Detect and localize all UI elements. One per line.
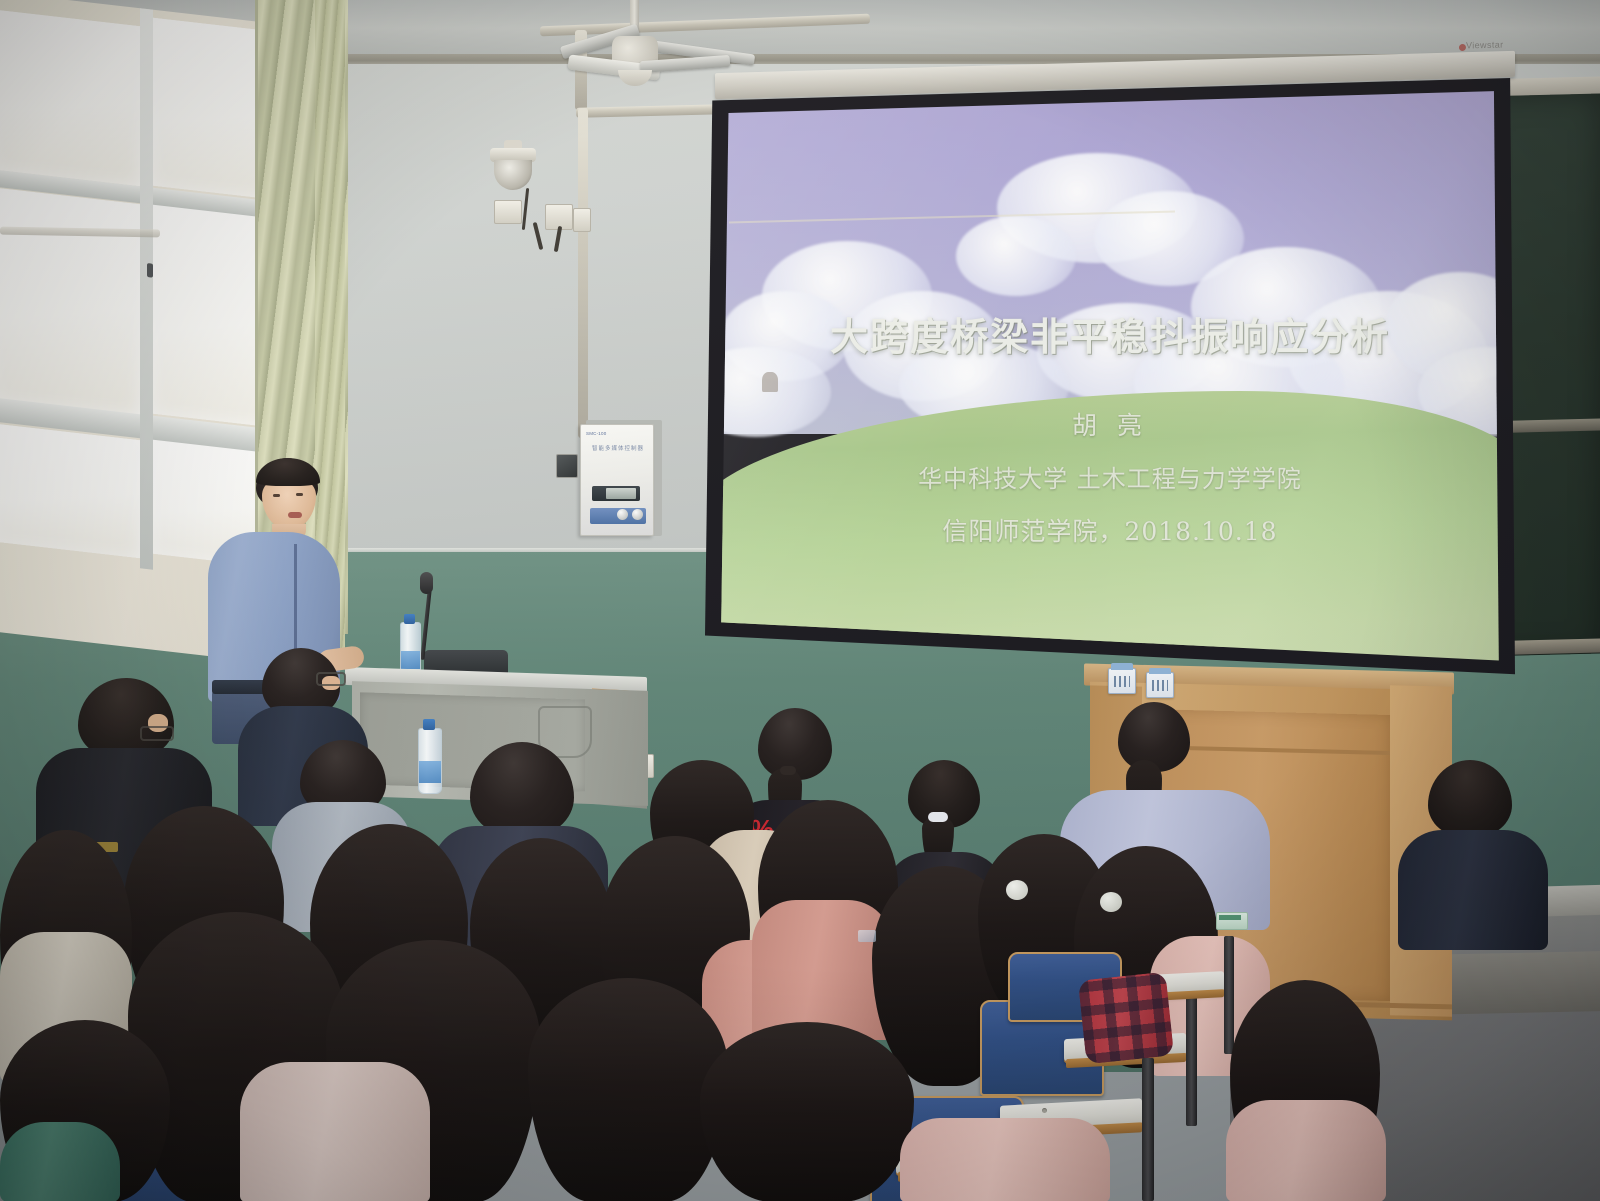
power-outlet-icon[interactable]	[573, 208, 591, 232]
window-pane	[0, 423, 140, 558]
conduit-pipe-vertical	[578, 108, 588, 438]
window-pane	[0, 9, 140, 186]
desk-leg	[1224, 936, 1234, 1054]
student-jacket-pink	[900, 1118, 1110, 1201]
presenter-eye	[296, 493, 303, 496]
red-plaid-jacket	[1078, 972, 1174, 1065]
chalk-box[interactable]	[1108, 668, 1136, 694]
desk-leg	[1186, 994, 1197, 1126]
projection-screen-surface[interactable]: 大跨度桥梁非平稳抖振响应分析 胡 亮 华中科技大学 土木工程与力学学院 信阳师范…	[705, 78, 1515, 703]
eyeglasses-icon	[140, 726, 174, 741]
wall-panel-knob[interactable]	[632, 509, 643, 520]
window-latch[interactable]	[147, 263, 153, 278]
chalk-box-lid	[1111, 663, 1133, 670]
bottle-label	[401, 651, 420, 669]
wall-panel-label: 智能多媒体控制器	[592, 444, 644, 452]
chalk-box-lid	[1149, 668, 1171, 674]
student-hair-long	[528, 978, 728, 1201]
hair-clip	[1006, 880, 1028, 900]
presenter-eye	[273, 494, 280, 497]
screen-glare	[705, 78, 1515, 703]
student-hair-long	[700, 1022, 914, 1201]
chalk-box-detail	[1152, 680, 1168, 691]
student-jacket-blush	[240, 1062, 430, 1201]
student-jacket-salmon	[752, 900, 892, 1040]
student-jacket-pink	[1226, 1100, 1386, 1201]
window-mullion	[140, 8, 153, 569]
hair-clip	[1100, 892, 1122, 912]
screen-brand-logo-text: Viewstar	[1466, 39, 1504, 50]
window-pane	[0, 187, 140, 416]
bottle-cap	[404, 614, 415, 624]
wall-panel-junction-box	[556, 454, 578, 478]
student-jacket	[1398, 830, 1548, 950]
eraser-label	[1219, 915, 1241, 920]
eyeglasses-icon	[316, 672, 346, 686]
hair-tie	[780, 766, 796, 775]
bottle-label	[419, 761, 441, 783]
wall-panel-lcd	[606, 488, 636, 499]
wall-panel-knob[interactable]	[617, 509, 628, 520]
gooseneck-microphone-icon[interactable]	[420, 572, 433, 594]
water-bottle[interactable]	[418, 728, 442, 794]
bottle-cap	[423, 719, 435, 730]
presenter-mouth	[288, 512, 302, 518]
student-top-teal	[0, 1122, 120, 1201]
power-outlet-icon[interactable]	[494, 200, 522, 224]
desk-leg	[1142, 1058, 1154, 1201]
chalk-box-detail	[1114, 676, 1130, 687]
phone-screen[interactable]	[858, 930, 876, 942]
chalk-box[interactable]	[1146, 672, 1174, 698]
hair-tie	[928, 812, 948, 822]
classroom-photo-scene: SMC-100 智能多媒体控制器 Viewstar 大跨度桥梁非平稳抖振响应分析…	[0, 0, 1600, 1201]
wall-panel-brand: SMC-100	[586, 431, 606, 436]
desk-screw	[1042, 1108, 1047, 1113]
